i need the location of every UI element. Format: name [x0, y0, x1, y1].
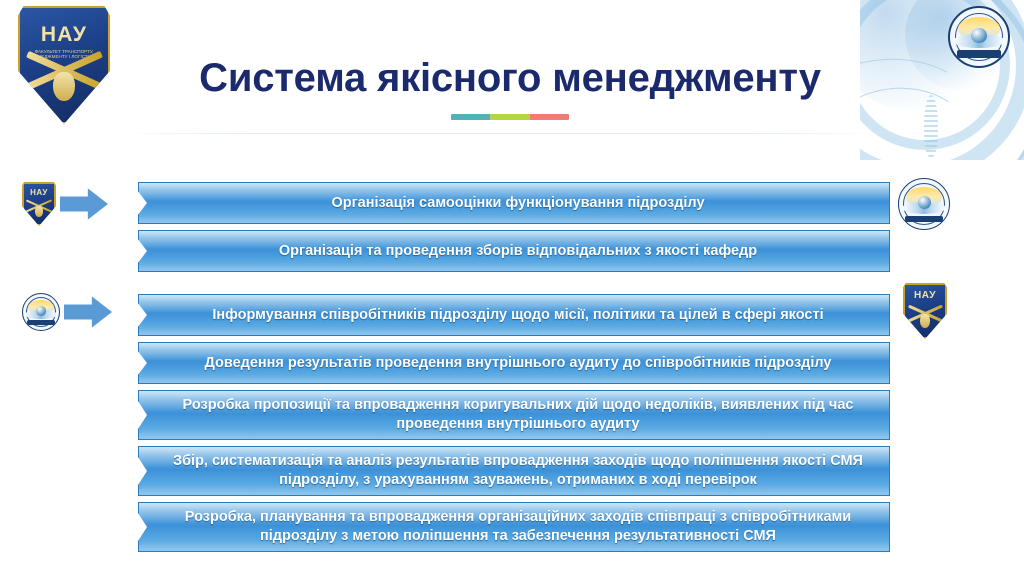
decorative-artwork	[860, 0, 1024, 160]
nau-shield-icon: НАУ	[903, 283, 947, 339]
process-bar[interactable]: Збір, систематизація та аналіз результат…	[138, 446, 890, 496]
process-bar-row: Доведення результатів проведення внутріш…	[138, 342, 890, 384]
nau-seal-icon	[898, 178, 950, 230]
process-bar[interactable]: Розробка, планування та впровадження орг…	[138, 502, 890, 552]
shield-owl-icon	[35, 206, 42, 216]
nau-shield-icon: НАУ ФАКУЛЬТЕТ ТРАНСПОРТУ, МЕНЕДЖМЕНТУ І …	[18, 6, 110, 124]
process-bar-row: Розробка пропозиції та впровадження кори…	[138, 390, 890, 440]
decorative-blob	[860, 0, 985, 110]
decorative-ring	[860, 0, 1010, 150]
process-bar[interactable]: Доведення результатів проведення внутріш…	[138, 342, 890, 384]
process-bar[interactable]: Інформування співробітників підрозділу щ…	[138, 294, 890, 336]
decorative-ring	[860, 0, 1024, 160]
seal-core	[36, 306, 45, 315]
process-bar-row: Розробка, планування та впровадження орг…	[138, 502, 890, 552]
nau-seal-icon	[948, 6, 1010, 68]
nau-shield-icon: НАУ	[22, 182, 56, 226]
page-title: Система якісного менеджменту	[150, 56, 870, 100]
process-bar-row: Інформування співробітників підрозділу щ…	[138, 294, 890, 336]
process-bar-label: Організація та проведення зборів відпові…	[279, 242, 757, 261]
decorative-blob	[905, 0, 1015, 90]
seal-core	[971, 28, 986, 43]
right-seal-emblem	[898, 178, 950, 230]
accent-divider	[451, 114, 569, 120]
shield-title: НАУ	[41, 24, 87, 45]
arrow-right-icon	[60, 187, 108, 221]
nau-seal-icon	[22, 293, 60, 331]
process-bar-label: Збір, систематизація та аналіз результат…	[173, 452, 863, 489]
slide-canvas: НАУ ФАКУЛЬТЕТ ТРАНСПОРТУ, МЕНЕДЖМЕНТУ І …	[0, 0, 1024, 574]
decorative-arc	[860, 40, 1002, 160]
shield-title: НАУ	[914, 291, 936, 301]
seal-band	[905, 216, 943, 223]
process-bar-row: Збір, систематизація та аналіз результат…	[138, 446, 890, 496]
seal-wing	[953, 34, 1004, 48]
shield-title: НАУ	[30, 189, 48, 197]
process-bar-row: Організація та проведення зборів відпові…	[138, 230, 890, 272]
arrow-right-icon	[64, 295, 112, 329]
decorative-arc	[860, 77, 985, 160]
seal-band	[957, 50, 1001, 58]
group-marker-2	[22, 293, 112, 331]
process-bar-label: Розробка, планування та впровадження орг…	[173, 508, 863, 545]
seal-sky	[958, 17, 1000, 40]
decorative-feather	[924, 95, 938, 157]
process-bar-list: Організація самооцінки функціонування пі…	[138, 182, 890, 558]
decorative-ring	[860, 0, 1024, 160]
process-bar-label: Доведення результатів проведення внутріш…	[205, 354, 832, 373]
shield-owl-icon	[53, 72, 74, 102]
process-bar-row: Організація самооцінки функціонування пі…	[138, 182, 890, 224]
faculty-shield-logo: НАУ ФАКУЛЬТЕТ ТРАНСПОРТУ, МЕНЕДЖМЕНТУ І …	[18, 6, 110, 124]
process-bar-label: Інформування співробітників підрозділу щ…	[212, 306, 823, 325]
accent-segment-2	[490, 114, 529, 120]
accent-segment-1	[451, 114, 490, 120]
seal-band	[27, 320, 54, 325]
title-block: Система якісного менеджменту	[150, 56, 870, 120]
process-bar-label: Розробка пропозиції та впровадження кори…	[173, 396, 863, 433]
seal-core	[918, 196, 931, 209]
title-hairline	[118, 133, 878, 134]
accent-segment-3	[530, 114, 569, 120]
process-bar[interactable]: Організація самооцінки функціонування пі…	[138, 182, 890, 224]
right-shield-emblem: НАУ	[903, 283, 947, 339]
group-marker-1: НАУ	[22, 182, 108, 226]
process-bar[interactable]: Розробка пропозиції та впровадження кори…	[138, 390, 890, 440]
decorative-ring	[860, 0, 1024, 160]
shield-owl-icon	[920, 314, 930, 328]
process-bar-label: Організація самооцінки функціонування пі…	[331, 194, 704, 213]
process-bar[interactable]: Організація та проведення зборів відпові…	[138, 230, 890, 272]
